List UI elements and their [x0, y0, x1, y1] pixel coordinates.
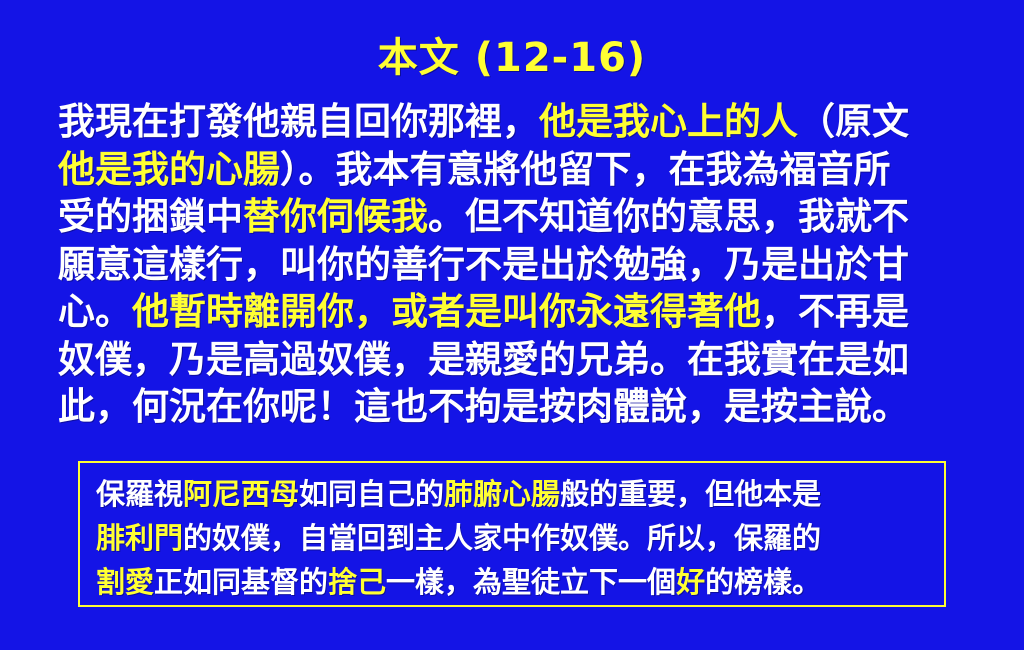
- text-line: 他是我的心腸）。我本有意將他留下，在我為福音所: [58, 146, 974, 194]
- text-run: 一樣，為聖徒立下一個: [386, 565, 676, 599]
- highlighted-text-run: 他暫時離開你，或者是叫你永遠得著他: [132, 290, 761, 333]
- commentary-text: 保羅視阿尼西母如同自己的肺腑心腸般的重要，但他本是腓利門的奴僕，自當回到主人家中…: [96, 472, 932, 604]
- highlighted-text-run: 好: [676, 565, 705, 599]
- commentary-box: 保羅視阿尼西母如同自己的肺腑心腸般的重要，但他本是腓利門的奴僕，自當回到主人家中…: [78, 461, 946, 607]
- highlighted-text-run: 阿尼西母: [183, 477, 299, 511]
- highlighted-text-run: 捨己: [328, 565, 386, 599]
- text-line: 願意這樣行，叫你的善行不是出於勉強，乃是出於甘: [58, 241, 974, 289]
- text-run: 。但不知道你的意思，我就不: [428, 195, 909, 238]
- text-run: 正如同基督的: [154, 565, 328, 599]
- text-line: 受的捆鎖中替你伺候我。但不知道你的意思，我就不: [58, 193, 974, 241]
- text-run: ，不再是: [761, 290, 909, 333]
- text-line: 奴僕，乃是高過奴僕，是親愛的兄弟。在我實在是如: [58, 336, 974, 384]
- slide-title: 本文 (12-16): [0, 34, 1024, 82]
- text-run: （原文: [798, 100, 909, 143]
- text-run: 此，何況在你呢！這也不拘是按肉體說，是按主說。: [58, 385, 909, 428]
- text-run: 保羅視: [96, 477, 183, 511]
- text-run: 心。: [58, 290, 132, 333]
- highlighted-text-run: 腓利門: [96, 521, 183, 555]
- highlighted-text-run: 替你伺候我: [243, 195, 428, 238]
- text-run: 的奴僕，自當回到主人家中作奴僕。所以，保羅的: [183, 521, 821, 555]
- text-line: 保羅視阿尼西母如同自己的肺腑心腸般的重要，但他本是: [96, 472, 932, 516]
- text-run: ）。我本有意將他留下，在我為福音所: [280, 148, 891, 191]
- text-line: 腓利門的奴僕，自當回到主人家中作奴僕。所以，保羅的: [96, 516, 932, 560]
- scripture-passage: 我現在打發他親自回你那裡，他是我心上的人（原文他是我的心腸）。我本有意將他留下，…: [58, 98, 974, 431]
- slide-canvas: 本文 (12-16) 我現在打發他親自回你那裡，他是我心上的人（原文他是我的心腸…: [0, 0, 1024, 650]
- highlighted-text-run: 他是我的心腸: [58, 148, 280, 191]
- text-line: 心。他暫時離開你，或者是叫你永遠得著他，不再是: [58, 288, 974, 336]
- highlighted-text-run: 他是我心上的人: [539, 100, 798, 143]
- text-run: 如同自己的: [299, 477, 444, 511]
- text-line: 我現在打發他親自回你那裡，他是我心上的人（原文: [58, 98, 974, 146]
- text-run: 般的重要，但他本是: [560, 477, 821, 511]
- text-run: 奴僕，乃是高過奴僕，是親愛的兄弟。在我實在是如: [58, 338, 909, 381]
- text-run: 我現在打發他親自回你那裡，: [58, 100, 539, 143]
- text-run: 的榜樣。: [705, 565, 821, 599]
- text-run: 受的捆鎖中: [58, 195, 243, 238]
- text-run: 願意這樣行，叫你的善行不是出於勉強，乃是出於甘: [58, 243, 909, 286]
- highlighted-text-run: 割愛: [96, 565, 154, 599]
- highlighted-text-run: 肺腑心腸: [444, 477, 560, 511]
- text-line: 割愛正如同基督的捨己一樣，為聖徒立下一個好的榜樣。: [96, 560, 932, 604]
- text-line: 此，何況在你呢！這也不拘是按肉體說，是按主說。: [58, 383, 974, 431]
